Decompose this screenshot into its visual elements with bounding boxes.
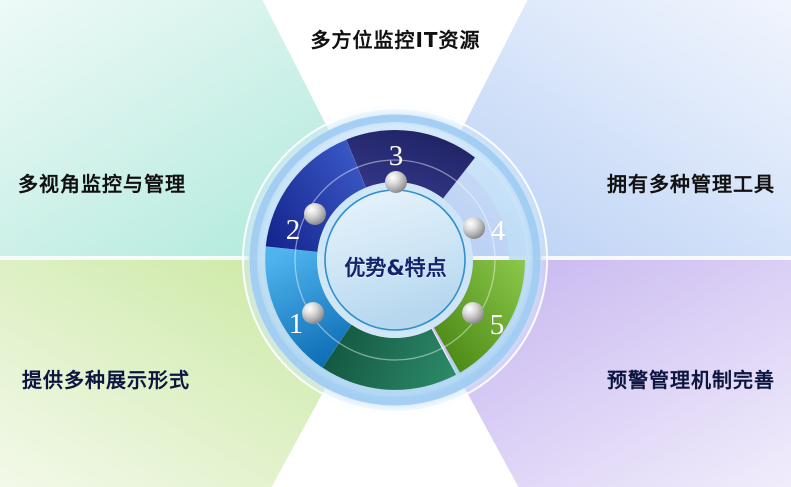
segment-number-3: 3: [389, 140, 404, 172]
marker-2[interactable]: [304, 203, 326, 225]
label-right-bottom: 预警管理机制完善: [607, 364, 775, 393]
segment-number-4: 4: [491, 215, 506, 247]
label-left-top: 多视角监控与管理: [18, 168, 186, 197]
marker-4[interactable]: [463, 217, 485, 239]
page-title: 多方位监控IT资源: [0, 24, 791, 53]
segment-number-1: 1: [289, 308, 304, 340]
label-left-bottom: 提供多种展示形式: [22, 364, 190, 393]
label-right-top: 拥有多种管理工具: [607, 168, 775, 197]
diagram-canvas: 1 2 3 4 5 多方位监控IT资源 多视角监控与管理 提供多种展示形式 拥有…: [0, 0, 791, 487]
marker-3[interactable]: [385, 171, 407, 193]
segment-number-5: 5: [490, 309, 505, 341]
center-label: 优势&特点: [0, 252, 791, 282]
marker-5[interactable]: [462, 302, 484, 324]
segment-number-2: 2: [286, 214, 301, 246]
marker-1[interactable]: [302, 302, 324, 324]
circular-diagram: 1 2 3 4 5: [0, 0, 791, 487]
